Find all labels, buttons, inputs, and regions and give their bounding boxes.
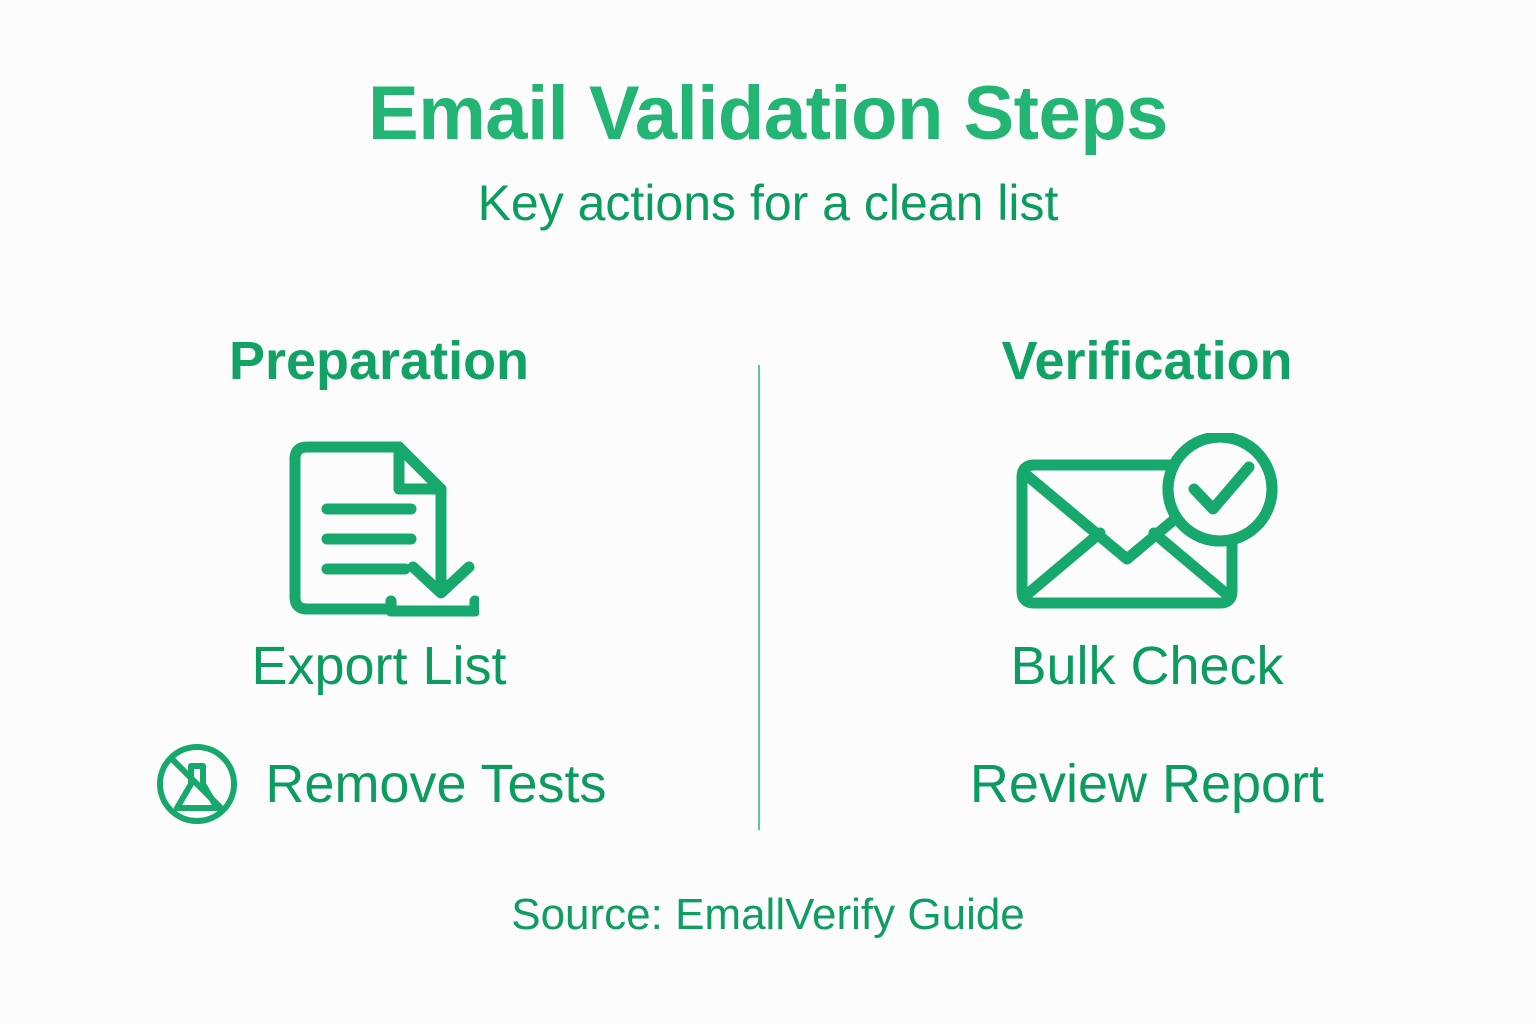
column-heading-preparation: Preparation [229,330,529,392]
column-verification: Verification Bulk Check [758,330,1536,819]
list-item-review-report: Review Report [970,749,1324,819]
item-label-remove-tests: Remove Tests [265,757,606,811]
no-test-flask-icon [151,738,243,830]
item-label-bulk-check: Bulk Check [1010,635,1283,697]
document-download-icon [279,420,479,635]
infographic-canvas: Email Validation Steps Key actions for a… [0,0,1536,1024]
page-subtitle: Key actions for a clean list [0,178,1536,228]
item-label-review-report: Review Report [970,757,1324,811]
envelope-check-icon [1008,420,1286,635]
list-item-remove-tests: Remove Tests [151,749,606,819]
item-label-export-list: Export List [251,635,506,697]
columns-container: Preparation [0,330,1536,819]
column-preparation: Preparation [0,330,758,819]
header: Email Validation Steps Key actions for a… [0,76,1536,228]
source-attribution: Source: EmallVerify Guide [0,893,1536,937]
column-heading-verification: Verification [1001,330,1292,392]
page-title: Email Validation Steps [0,76,1536,152]
